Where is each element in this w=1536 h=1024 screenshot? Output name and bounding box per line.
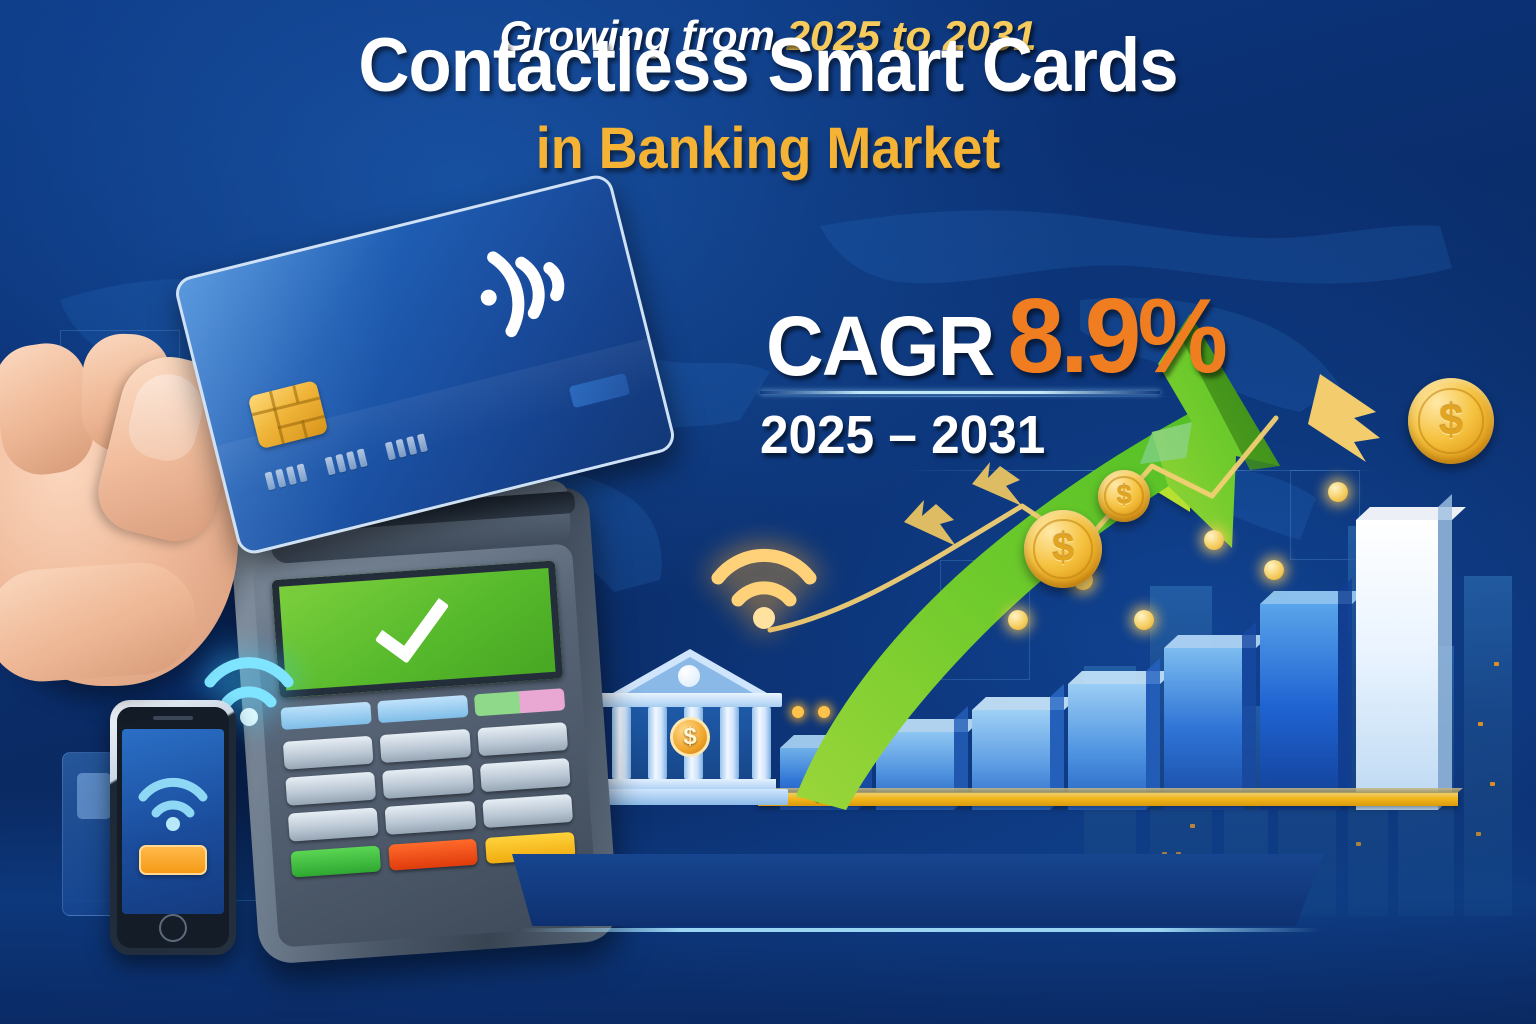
home-button[interactable] <box>159 914 187 942</box>
soft-key[interactable] <box>474 688 565 716</box>
keypad-key[interactable] <box>283 736 374 770</box>
dollar-coin-icon: $ <box>1098 470 1150 522</box>
keypad-key[interactable] <box>479 758 570 792</box>
keypad-key[interactable] <box>482 794 573 828</box>
trend-marker <box>1134 610 1154 630</box>
nfc-wave-icon <box>706 534 822 630</box>
title-line-2: in Banking Market <box>54 115 1482 182</box>
infographic-poster: Contactless Smart Cards in Banking Marke… <box>0 0 1536 1024</box>
bank-dollar-coin: $ <box>670 717 710 757</box>
title-line-1: Contactless Smart Cards <box>54 22 1482 109</box>
banner-underline <box>520 928 1320 932</box>
cagr-block: CAGR 8.9% 2025 – 2031 <box>760 286 1280 466</box>
nfc-wave-icon <box>135 769 211 831</box>
soft-key[interactable] <box>377 695 468 723</box>
cagr-headline: CAGR 8.9% <box>760 286 1280 387</box>
keypad-key[interactable] <box>385 801 476 835</box>
poster-title: Contactless Smart Cards in Banking Marke… <box>0 22 1536 182</box>
keypad[interactable] <box>283 722 573 842</box>
dollar-coin-icon: $ <box>1408 378 1494 464</box>
keypad-key[interactable] <box>380 729 471 763</box>
smartphone[interactable] <box>110 700 236 955</box>
trend-marker <box>1264 560 1284 580</box>
confirm-key[interactable] <box>290 845 380 877</box>
keypad-key[interactable] <box>288 807 379 841</box>
dollar-coin-icon: $ <box>1024 510 1102 588</box>
cancel-key[interactable] <box>388 839 478 871</box>
trend-marker <box>1204 530 1224 550</box>
cagr-period: 2025 – 2031 <box>760 404 1254 466</box>
keypad-key[interactable] <box>382 765 473 799</box>
bank-building-icon: $ <box>600 620 780 805</box>
keypad-key[interactable] <box>477 722 568 756</box>
terminal-screen <box>271 560 563 698</box>
phone-screen[interactable] <box>122 729 224 914</box>
bottom-banner <box>512 854 1324 926</box>
trend-marker <box>1008 610 1028 630</box>
keypad-key[interactable] <box>285 772 376 806</box>
checkmark-icon <box>375 582 450 664</box>
trend-marker <box>1328 482 1348 502</box>
pay-button[interactable] <box>139 845 207 875</box>
cagr-value: 8.9% <box>1008 286 1225 387</box>
cagr-label: CAGR <box>766 307 993 387</box>
